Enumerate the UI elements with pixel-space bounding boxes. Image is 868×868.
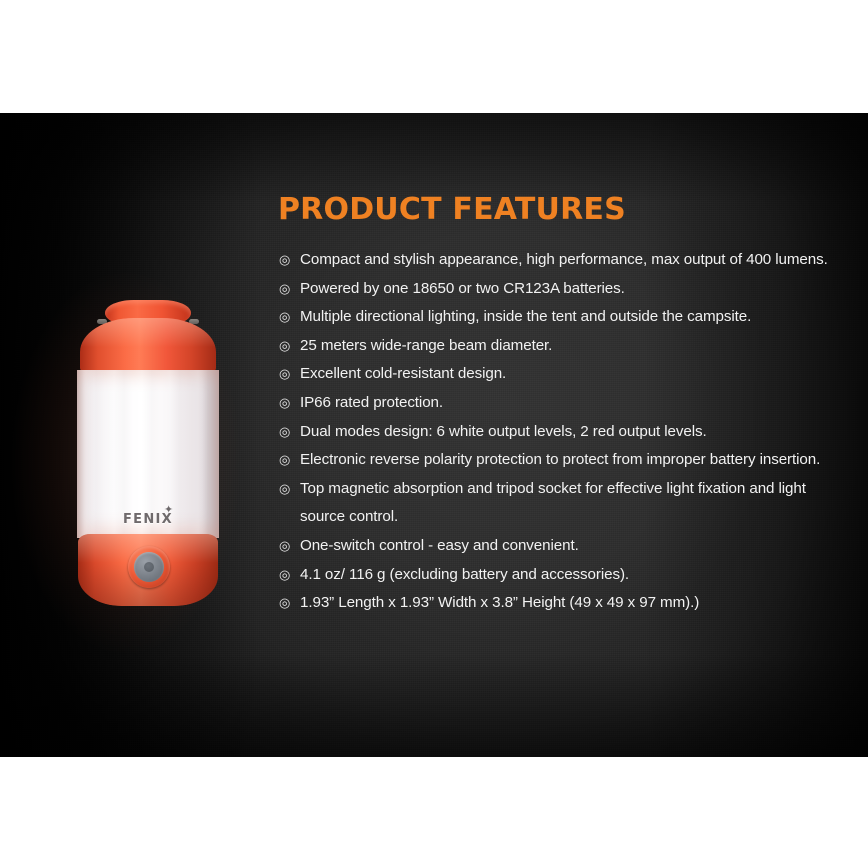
bullet-icon: ◎	[279, 418, 290, 447]
bullet-icon: ◎	[279, 389, 290, 418]
feature-text: Multiple directional lighting, inside th…	[300, 303, 834, 332]
features-content: PRODUCT FEATURES ◎ Compact and stylish a…	[278, 193, 834, 618]
bullet-icon: ◎	[279, 561, 290, 590]
lantern-product-image: ✦ FENIX	[72, 300, 224, 620]
feature-text: Electronic reverse polarity protection t…	[300, 446, 834, 475]
feature-list-item: ◎ 25 meters wide-range beam diameter.	[278, 332, 834, 361]
feature-list-item: ◎ 4.1 oz/ 116 g (excluding battery and a…	[278, 561, 834, 590]
feature-list: ◎ Compact and stylish appearance, high p…	[278, 246, 834, 618]
bullet-icon: ◎	[279, 589, 290, 618]
lantern-switch-center-dot	[144, 562, 154, 572]
bullet-icon: ◎	[279, 303, 290, 332]
bullet-icon: ◎	[279, 275, 290, 304]
bullet-icon: ◎	[279, 246, 290, 275]
feature-text: One-switch control - easy and convenient…	[300, 532, 834, 561]
feature-list-item: ◎ Powered by one 18650 or two CR123A bat…	[278, 275, 834, 304]
feature-list-item: ◎ Top magnetic absorption and tripod soc…	[278, 475, 834, 532]
product-features-page: ✦ FENIX PRODUCT FEATURES ◎ Compact and s…	[0, 0, 868, 868]
feature-text: Dual modes design: 6 white output levels…	[300, 418, 834, 447]
feature-list-item: ◎ One-switch control - easy and convenie…	[278, 532, 834, 561]
feature-list-item: ◎ Multiple directional lighting, inside …	[278, 303, 834, 332]
lantern-upper-body-highlight	[80, 318, 216, 374]
feature-text: 4.1 oz/ 116 g (excluding battery and acc…	[300, 561, 834, 590]
feature-text: 1.93” Length x 1.93” Width x 3.8” Height…	[300, 589, 834, 618]
feature-text: Powered by one 18650 or two CR123A batte…	[300, 275, 834, 304]
page-title: PRODUCT FEATURES	[278, 193, 834, 227]
feature-list-item: ◎ Dual modes design: 6 white output leve…	[278, 418, 834, 447]
bullet-icon: ◎	[279, 332, 290, 361]
feature-text: Top magnetic absorption and tripod socke…	[300, 475, 834, 532]
feature-text: Excellent cold-resistant design.	[300, 360, 834, 389]
bullet-icon: ◎	[279, 446, 290, 475]
feature-text: IP66 rated protection.	[300, 389, 834, 418]
feature-list-item: ◎ IP66 rated protection.	[278, 389, 834, 418]
bullet-icon: ◎	[279, 475, 290, 504]
feature-list-item: ◎ Electronic reverse polarity protection…	[278, 446, 834, 475]
feature-list-item: ◎ 1.93” Length x 1.93” Width x 3.8” Heig…	[278, 589, 834, 618]
feature-text: Compact and stylish appearance, high per…	[300, 246, 834, 275]
bullet-icon: ◎	[279, 360, 290, 389]
bullet-icon: ◎	[279, 532, 290, 561]
feature-text: 25 meters wide-range beam diameter.	[300, 332, 834, 361]
product-image-area: ✦ FENIX	[0, 113, 268, 757]
feature-list-item: ◎ Compact and stylish appearance, high p…	[278, 246, 834, 275]
fenix-brand-logo: FENIX	[72, 512, 224, 527]
feature-list-item: ◎ Excellent cold-resistant design.	[278, 360, 834, 389]
